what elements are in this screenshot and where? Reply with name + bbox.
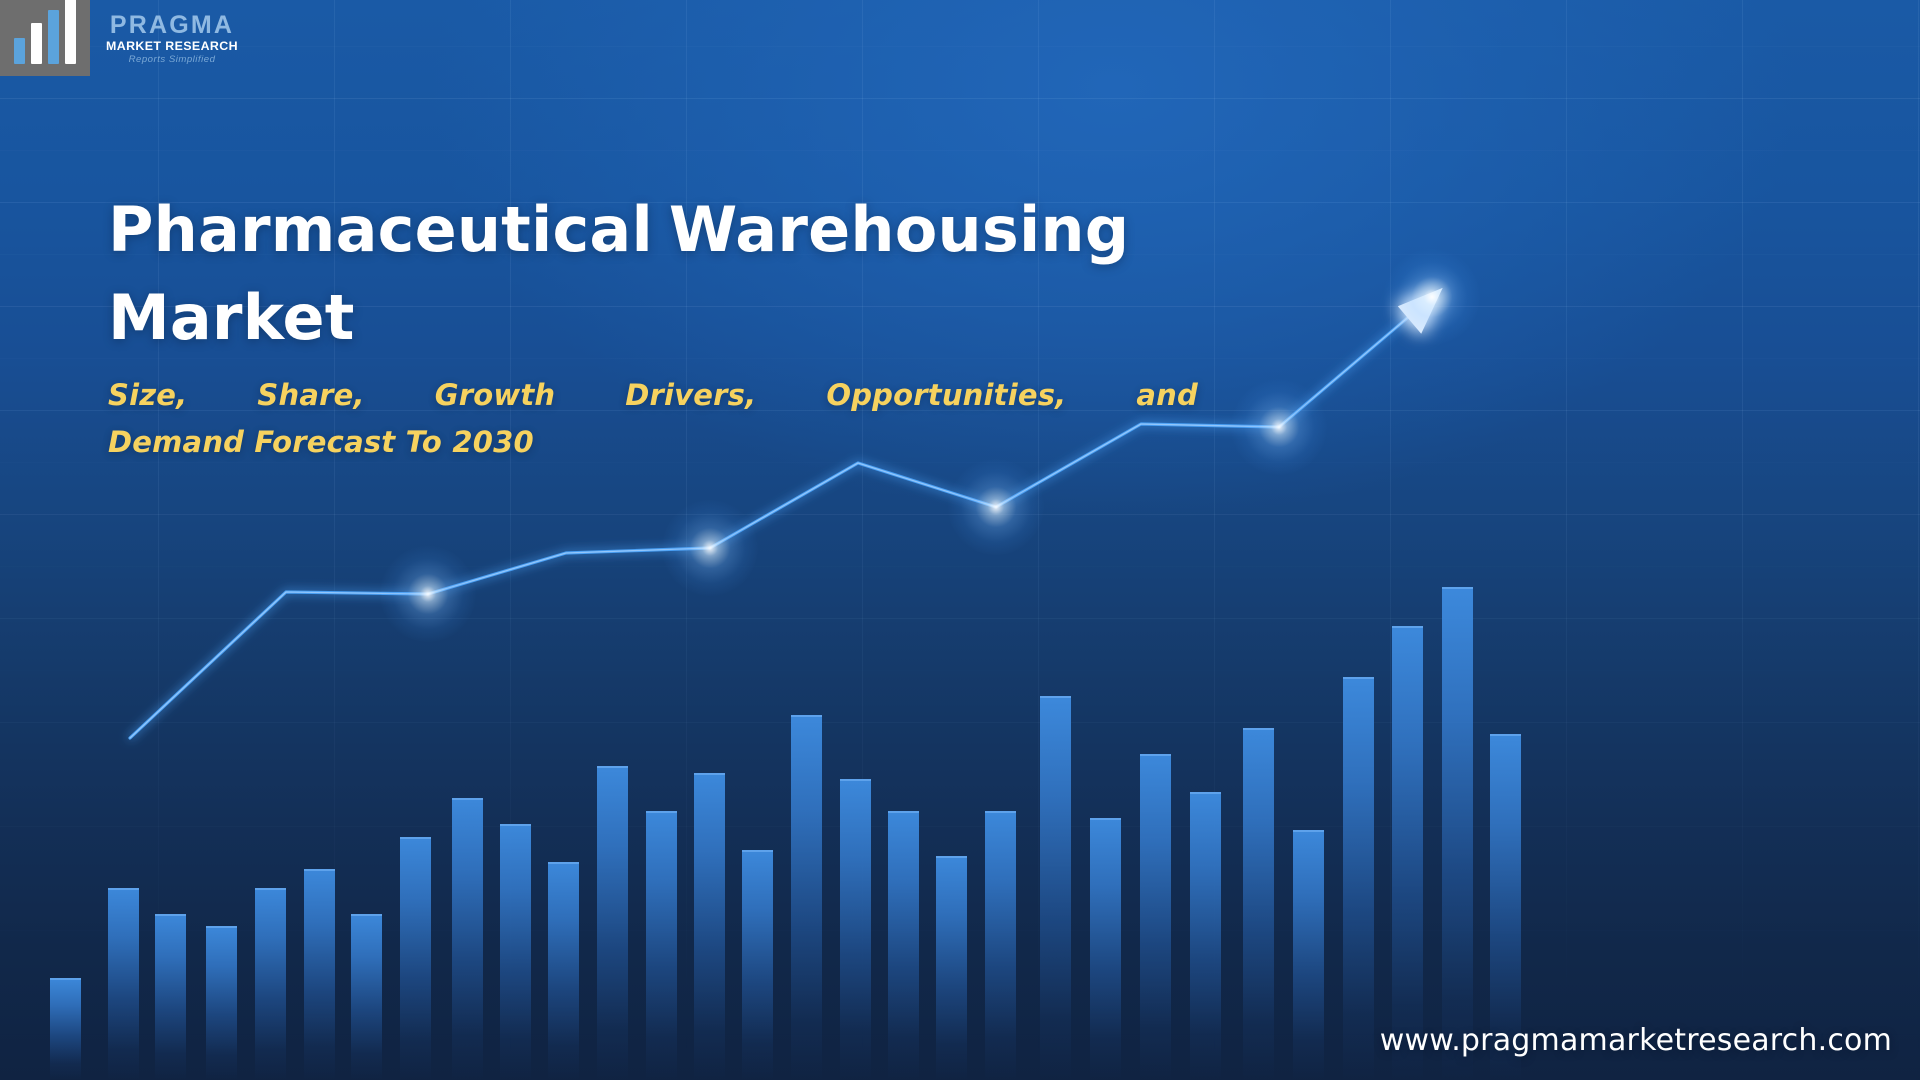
bar-chart-logo-icon: [0, 0, 90, 76]
brand-logo[interactable]: PRAGMA MARKET RESEARCH Reports Simplifie…: [0, 0, 252, 76]
page-title-line-2: Market: [108, 281, 355, 354]
logo-bar-4: [65, 0, 76, 64]
website-url[interactable]: www.pragmamarketresearch.com: [1380, 1023, 1892, 1058]
chart-trend-line: [0, 0, 1920, 1080]
background-growth-chart: [0, 0, 1920, 1080]
page-subtitle-line-1: Size, Share, Growth Drivers, Opportuniti…: [108, 372, 1198, 419]
logo-bar-3: [48, 10, 59, 64]
page-subtitle: Size, Share, Growth Drivers, Opportuniti…: [108, 372, 1198, 466]
logo-bar-2: [31, 23, 42, 64]
trend-arrowhead-icon: [1398, 288, 1443, 334]
page-subtitle-line-2: Demand Forecast To 2030: [108, 419, 1198, 466]
marketing-banner: PRAGMA MARKET RESEARCH Reports Simplifie…: [0, 0, 1920, 1080]
page-title-line-1b: Warehousing: [653, 193, 1129, 266]
page-title: PharmaceuticalWarehousingMarket: [108, 186, 1218, 362]
brand-name: PRAGMA: [110, 13, 234, 39]
brand-tagline-sub: Reports Simplified: [129, 54, 216, 67]
brand-tagline-main: MARKET RESEARCH: [106, 39, 238, 55]
brand-logo-text: PRAGMA MARKET RESEARCH Reports Simplifie…: [90, 0, 252, 76]
headline-block: PharmaceuticalWarehousingMarket Size, Sh…: [108, 186, 1218, 466]
logo-bar-1: [14, 38, 25, 64]
page-title-line-1: Pharmaceutical: [108, 193, 653, 266]
